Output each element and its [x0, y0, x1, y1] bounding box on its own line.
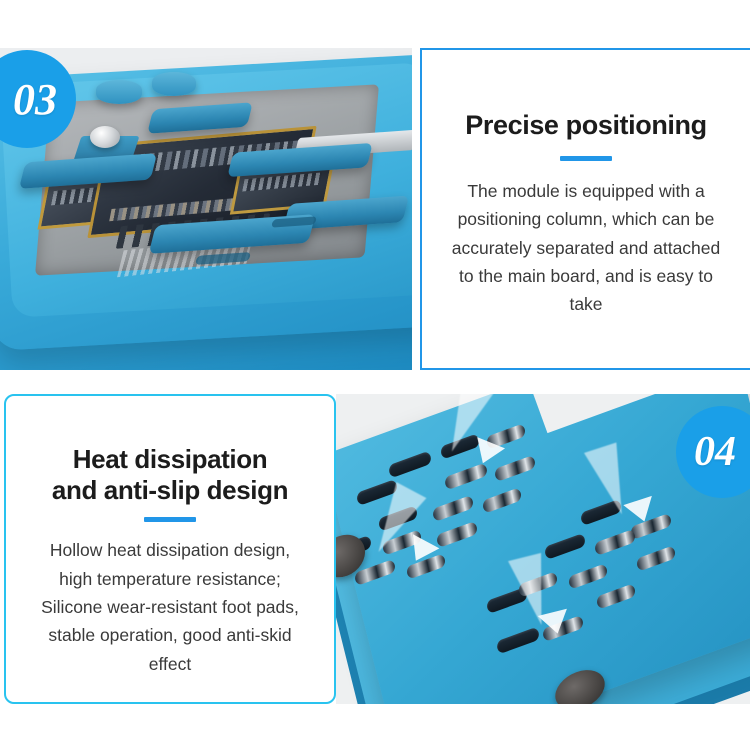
- accent-underline: [560, 156, 612, 161]
- section-04-heading-line1: Heat dissipation: [61, 444, 279, 475]
- precise-positioning-text-panel: Precise positioning The module is equipp…: [420, 48, 750, 370]
- accent-underline: [144, 517, 196, 522]
- section-03-body: The module is equipped with a positionin…: [422, 177, 750, 319]
- heat-dissipation-photo: 04: [336, 394, 750, 704]
- section-03: 03 Precise positioning The module is equ…: [0, 48, 750, 370]
- thumb-screw: [90, 126, 120, 148]
- section-04-heading-line2: and anti-slip design: [40, 475, 300, 506]
- pcb-fixture-photo: 03: [0, 48, 412, 370]
- positioning-column-1: [96, 80, 142, 104]
- heat-dissipation-text-panel: Heat dissipation and anti-slip design Ho…: [4, 394, 336, 704]
- section-03-heading: Precise positioning: [453, 110, 718, 142]
- positioning-column-2: [152, 72, 196, 96]
- section-04-body: Hollow heat dissipation design, high tem…: [6, 536, 334, 678]
- section-04: Heat dissipation and anti-slip design Ho…: [0, 394, 750, 704]
- product-feature-page: 03 Precise positioning The module is equ…: [0, 0, 750, 750]
